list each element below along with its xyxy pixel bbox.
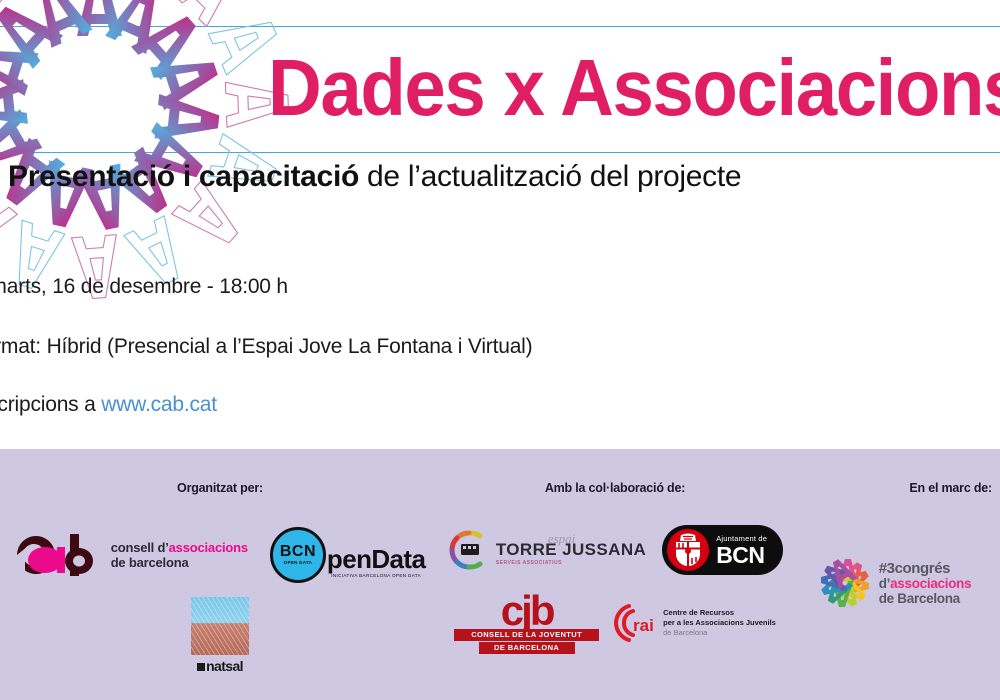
rai-logo: rai Centre de Recursos per a les Associa… bbox=[609, 600, 776, 646]
ajuntament-big: BCN bbox=[716, 543, 767, 567]
rai-mark-text: rai bbox=[633, 616, 654, 635]
cab-logo: consell d’associacions de barcelona bbox=[15, 530, 248, 580]
tercer-congres-logo: #3congrés d’associacions de Barcelona bbox=[819, 557, 972, 609]
subtitle: Presentació i capacitació de l’actualitz… bbox=[8, 158, 741, 196]
cjb-bar-2: DE BARCELONA bbox=[479, 642, 575, 654]
torre-jussana-text: espai TORRE JUSSANA SERVEIS ASSOCIATIUS bbox=[496, 534, 646, 567]
bcn-opendata-logo: BCN OPEN DATA penData INICIATIVA BARCELO… bbox=[270, 527, 425, 583]
collaboration-column: Amb la col·laboració de: bbox=[440, 449, 790, 700]
cab-text-line1b: associacions bbox=[169, 540, 248, 555]
torre-jussana-sub: SERVEIS ASSOCIATIUS bbox=[496, 559, 646, 567]
event-format-line: Format: Híbrid (Presencial a l’Espai Jov… bbox=[0, 334, 532, 360]
starburst-a-letters-logo bbox=[0, 0, 302, 312]
cab-mark-icon bbox=[15, 530, 101, 580]
page-title: Dades x Associacions bbox=[268, 48, 1000, 128]
signup-link[interactable]: www.cab.cat bbox=[101, 393, 217, 416]
rai-line2: per a les Associacions Juvenils bbox=[663, 618, 776, 628]
bcn-circle-big: BCN bbox=[280, 544, 316, 559]
natsal-word: natsal bbox=[189, 658, 251, 674]
organized-by-title: Organitzat per: bbox=[0, 481, 440, 495]
bcn-circle-icon: BCN OPEN DATA bbox=[270, 527, 326, 583]
congres-line3: de Barcelona bbox=[879, 591, 972, 606]
opendata-word: penData bbox=[327, 546, 425, 572]
congres-line2: d’associacions bbox=[879, 576, 972, 591]
rai-line3: de Barcelona bbox=[663, 628, 776, 638]
event-date-line: Dimarts, 16 de desembre - 18:00 h bbox=[0, 274, 288, 300]
congres-line2a: d’ bbox=[879, 576, 890, 591]
ajuntament-text: Ajuntament de BCN bbox=[716, 534, 767, 567]
cjb-logo: cjb CONSELL DE LA JOVENTUT DE BARCELONA bbox=[454, 591, 599, 654]
cjb-letters: cjb bbox=[454, 591, 599, 631]
natsal-logo: natsal bbox=[189, 597, 251, 674]
banner-rule-top bbox=[0, 26, 1000, 27]
opendata-tagline: INICIATIVA BARCELONA OPEN DATA bbox=[327, 572, 425, 579]
rai-mark-icon: rai bbox=[609, 600, 659, 646]
cab-text-line2: de barcelona bbox=[111, 555, 248, 570]
sponsors-footer: Organitzat per: consell d’associacions bbox=[0, 449, 1000, 700]
congres-text: #3congrés d’associacions de Barcelona bbox=[879, 561, 972, 606]
framework-logo-row: #3congrés d’associacions de Barcelona bbox=[790, 557, 1000, 609]
opendata-wordblock: penData INICIATIVA BARCELONA OPEN DATA bbox=[327, 546, 425, 583]
banner-rule-bottom bbox=[0, 152, 1000, 153]
natsal-word-text: natsal bbox=[206, 658, 243, 674]
signup-label: Inscripcions a bbox=[0, 393, 101, 416]
organized-by-column: Organitzat per: consell d’associacions bbox=[0, 449, 440, 700]
cab-logo-text: consell d’associacions de barcelona bbox=[111, 540, 248, 570]
cab-text-line1a: consell d’ bbox=[111, 540, 169, 555]
torre-jussana-logo: espai TORRE JUSSANA SERVEIS ASSOCIATIUS bbox=[447, 528, 646, 572]
natsal-square-glyph bbox=[197, 663, 205, 671]
collaboration-logo-row-1: espai TORRE JUSSANA SERVEIS ASSOCIATIUS bbox=[440, 525, 790, 575]
bcn-circle-small: OPEN DATA bbox=[284, 559, 313, 566]
framework-column: En el marc de: bbox=[790, 449, 1000, 700]
subtitle-bold: Presentació i capacitació bbox=[8, 160, 359, 193]
congres-line2b: associacions bbox=[890, 576, 971, 591]
organized-logo-row-2: natsal bbox=[0, 597, 440, 674]
congres-line1: #3congrés bbox=[879, 561, 972, 576]
header-banner: Dades x Associacions Presentació i capac… bbox=[0, 0, 1000, 449]
event-signup-line: Inscripcions a www.cab.cat bbox=[0, 392, 217, 418]
framework-title: En el marc de: bbox=[790, 481, 1000, 495]
cjb-bar-1: CONSELL DE LA JOVENTUT bbox=[454, 629, 599, 641]
natsal-square-icon bbox=[191, 597, 249, 655]
collaboration-title: Amb la col·laboració de: bbox=[440, 481, 790, 495]
rai-text: Centre de Recursos per a les Associacion… bbox=[663, 608, 776, 638]
rai-line1: Centre de Recursos bbox=[663, 608, 776, 618]
ajuntament-bcn-logo: Ajuntament de BCN bbox=[662, 525, 783, 575]
barcelona-coat-of-arms-icon bbox=[667, 529, 709, 571]
torre-jussana-arc-icon bbox=[447, 528, 491, 572]
subtitle-rest: de l’actualització del projecte bbox=[359, 160, 741, 193]
collaboration-logo-row-2: cjb CONSELL DE LA JOVENTUT DE BARCELONA … bbox=[440, 591, 790, 654]
congres-a-ring-icon bbox=[819, 557, 871, 609]
organized-logo-row-1: consell d’associacions de barcelona BCN … bbox=[0, 527, 440, 583]
torre-jussana-script: espai bbox=[548, 531, 575, 547]
